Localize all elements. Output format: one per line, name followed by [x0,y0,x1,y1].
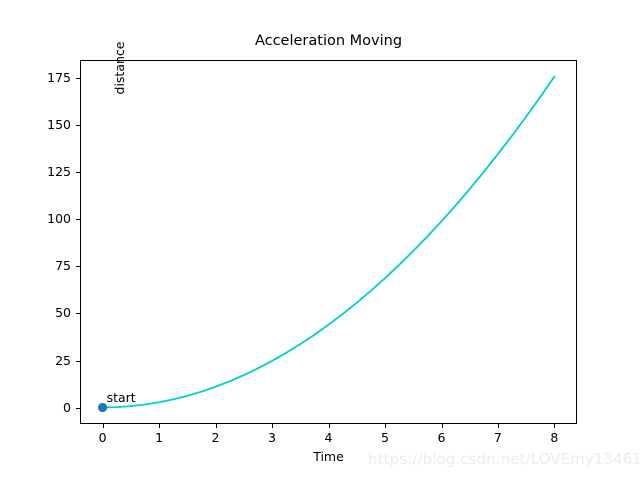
y-tick-label: 125 [26,164,71,179]
y-tick-label: 75 [26,258,71,273]
y-tick-label: 25 [26,353,71,368]
x-tick-label: 8 [534,430,574,445]
x-tick-mark [216,424,217,428]
x-tick-label: 3 [252,430,292,445]
x-tick-mark [159,424,160,428]
x-tick-label: 7 [478,430,518,445]
x-tick-label: 4 [309,430,349,445]
y-tick-mark [76,172,80,173]
plot-area [80,60,577,424]
x-tick-mark [442,424,443,428]
y-tick-label: 175 [26,70,71,85]
y-tick-mark [76,313,80,314]
x-tick-label: 1 [139,430,179,445]
y-tick-mark [76,78,80,79]
x-tick-mark [103,424,104,428]
y-tick-label: 50 [26,305,71,320]
watermark-text: https://blog.csdn.net/LOVEmy134611 [368,450,640,468]
y-tick-mark [76,219,80,220]
y-axis-label: distance [112,0,128,250]
x-tick-label: 6 [422,430,462,445]
x-tick-label: 5 [365,430,405,445]
y-tick-label: 0 [26,400,71,415]
y-tick-label: 150 [26,117,71,132]
x-tick-mark [554,424,555,428]
y-tick-mark [76,266,80,267]
x-tick-label: 0 [83,430,123,445]
x-tick-mark [385,424,386,428]
x-tick-label: 2 [196,430,236,445]
y-tick-mark [76,361,80,362]
x-tick-mark [498,424,499,428]
y-tick-label: 100 [26,211,71,226]
y-tick-mark [76,125,80,126]
page-title: Acceleration Moving [80,33,577,49]
start-annotation-label: start [107,390,136,405]
y-tick-mark [76,408,80,409]
matplotlib-figure: Acceleration Moving 012345678 0255075100… [0,0,640,480]
x-tick-mark [329,424,330,428]
x-tick-mark [272,424,273,428]
data-line-distance [103,77,555,408]
